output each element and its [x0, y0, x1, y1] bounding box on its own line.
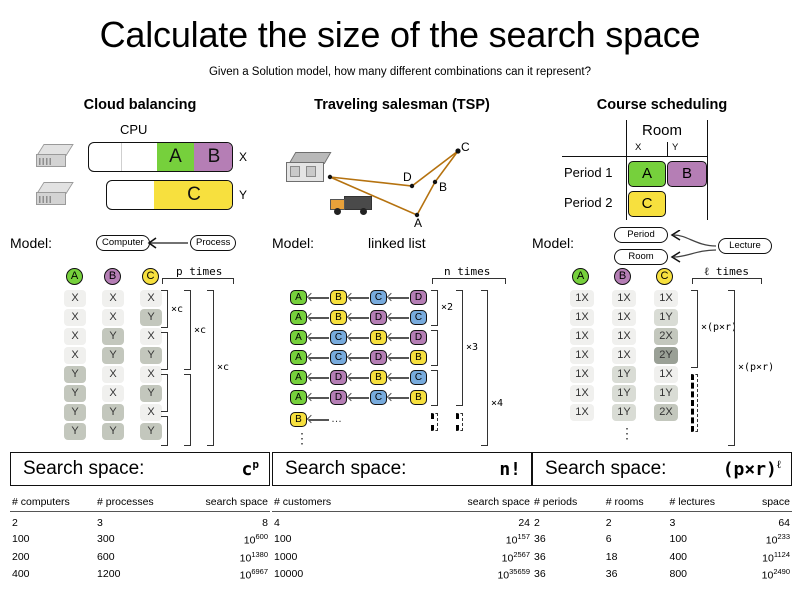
- model-arrows: [532, 230, 792, 270]
- combination-cell: X: [102, 385, 124, 402]
- bracket-level-1-dashed: [431, 413, 438, 431]
- table-cell: 300: [95, 531, 178, 549]
- chain-arrow-head: [387, 373, 395, 381]
- combination-cell: 1X: [612, 347, 636, 364]
- search-space-label: Search space:: [285, 458, 406, 480]
- table-cell: 1035659: [397, 566, 532, 584]
- combination-cell: Y: [64, 366, 86, 383]
- bracket-level-2: [456, 290, 463, 406]
- chain-node[interactable]: A: [290, 390, 307, 405]
- chain-node[interactable]: D: [370, 310, 387, 325]
- table-cell: 1000: [272, 548, 397, 566]
- data-table-course: # periods# rooms# lecturesspace223643661…: [532, 495, 792, 583]
- table-cell: 102567: [397, 548, 532, 566]
- chain-arrow-head: [307, 373, 315, 381]
- process-chip-c[interactable]: C: [154, 181, 233, 209]
- chain-node[interactable]: C: [330, 350, 347, 365]
- table-header: # rooms: [604, 495, 668, 512]
- model-label: Model:: [272, 235, 314, 251]
- table-cell: 10600: [179, 531, 271, 549]
- chain-ellipsis: …: [331, 413, 342, 425]
- chain-arrow-head: [387, 353, 395, 361]
- table-cell: 64: [743, 512, 792, 531]
- chain-node[interactable]: C: [410, 370, 427, 385]
- process-chip-b[interactable]: B: [194, 143, 233, 171]
- combination-cell: 1X: [570, 309, 594, 326]
- table-cell: 102490: [743, 566, 792, 584]
- combination-cell: 2X: [654, 328, 678, 345]
- lecture-block-b[interactable]: B: [667, 161, 707, 187]
- chain-arrow-head: [347, 353, 355, 361]
- page-title: Calculate the size of the search space: [0, 14, 800, 56]
- combination-cell: X: [140, 290, 162, 307]
- chain-arrow-head: [307, 393, 315, 401]
- combination-cell: Y: [140, 347, 162, 364]
- chain-node[interactable]: D: [370, 350, 387, 365]
- combination-cell: 1X: [612, 309, 636, 326]
- column-heading: Cloud balancing: [10, 96, 270, 114]
- table-cell: 36: [532, 566, 604, 584]
- search-space-box-course: Search space: (p×r)ℓ: [532, 452, 792, 486]
- tsp-map: C D B A: [272, 120, 532, 230]
- combo-header-a: A: [572, 268, 589, 285]
- table-cell: 18: [604, 548, 668, 566]
- computer-tag-y: Y: [239, 188, 247, 202]
- chain-node[interactable]: D: [410, 290, 427, 305]
- combination-cell: 2X: [654, 404, 678, 421]
- table-cell: 2: [604, 512, 668, 531]
- period-label-2: Period 2: [564, 195, 612, 210]
- node-label-d: D: [403, 170, 412, 184]
- combo-header-a: A: [66, 268, 83, 285]
- cloud-combination-table: A B C XXXXXYXYXXYYYXXYXYYYXYYY p times ×…: [10, 268, 270, 448]
- combination-cell: 1X: [654, 366, 678, 383]
- combo-header-c: C: [656, 268, 673, 285]
- chain-arrow-head: [347, 373, 355, 381]
- combination-cell: 2Y: [654, 347, 678, 364]
- combination-cell: Y: [140, 385, 162, 402]
- combination-cell: Y: [102, 347, 124, 364]
- column-tsp: Traveling salesman (TSP) C D B A Model: …: [272, 96, 532, 596]
- table-cell: 100: [272, 531, 397, 549]
- combination-cell: 1X: [570, 347, 594, 364]
- bracket-level-3: [481, 290, 488, 446]
- combination-cell: X: [64, 347, 86, 364]
- table-cell: 36: [532, 531, 604, 549]
- search-space-label: Search space:: [23, 458, 144, 480]
- combination-cell: Y: [140, 309, 162, 326]
- table-cell: 100: [10, 531, 95, 549]
- table-header: # lectures: [667, 495, 742, 512]
- chain-node[interactable]: C: [410, 310, 427, 325]
- table-row: 36610010233: [532, 531, 792, 549]
- table-row: 10030010600: [10, 531, 270, 549]
- table-cell: 8: [179, 512, 271, 531]
- column-heading: Traveling salesman (TSP): [272, 96, 532, 114]
- brace-label: p times: [176, 265, 222, 278]
- grid-vline-mid: [667, 142, 668, 156]
- combination-cell: Y: [64, 385, 86, 402]
- cpu-label: CPU: [120, 122, 147, 137]
- data-table-cloud: # computers# processessearch space238100…: [10, 495, 270, 583]
- combination-cell: Y: [102, 423, 124, 440]
- brace-top: [692, 278, 762, 284]
- computer-tag-x: X: [239, 150, 247, 164]
- course-schedule-grid: Room X Y Period 1 Period 2 A B C: [532, 120, 792, 230]
- multiplier-2: ×3: [466, 342, 478, 353]
- combination-cell: 1X: [612, 328, 636, 345]
- multiplier-3: ×c: [217, 362, 229, 373]
- chain-arrow-head: [387, 313, 395, 321]
- table-row: 3618400101124: [532, 548, 792, 566]
- chain-node[interactable]: B: [410, 390, 427, 405]
- combination-cell: 1Y: [654, 309, 678, 326]
- multiplier-1: ×2: [441, 302, 453, 313]
- model-row-tsp: Model: linked list: [272, 230, 532, 260]
- table-cell: 100: [667, 531, 742, 549]
- combination-cell: 1Y: [612, 366, 636, 383]
- bracket-level-1: [431, 330, 438, 366]
- table-header: # periods: [532, 495, 604, 512]
- combination-cell: 1X: [570, 328, 594, 345]
- chain-node[interactable]: A: [290, 350, 307, 365]
- combination-cell: X: [102, 290, 124, 307]
- chain-node[interactable]: C: [370, 290, 387, 305]
- brace-label: n times: [444, 265, 490, 278]
- table-cell: 10233: [743, 531, 792, 549]
- combination-cell: X: [140, 366, 162, 383]
- table-cell: 600: [95, 548, 178, 566]
- chain-node[interactable]: B: [330, 310, 347, 325]
- combination-cell: Y: [102, 328, 124, 345]
- server-icon: [36, 182, 72, 208]
- table-row: 424: [272, 512, 532, 531]
- table-cell: 4: [272, 512, 397, 531]
- chain-arrow-head: [307, 333, 315, 341]
- combination-cell: 1X: [570, 290, 594, 307]
- table-cell: 101124: [743, 548, 792, 566]
- table-row: 22364: [532, 512, 792, 531]
- chain-node[interactable]: C: [370, 390, 387, 405]
- chain-node[interactable]: A: [290, 290, 307, 305]
- table-cell: 3: [667, 512, 742, 531]
- chain-node[interactable]: A: [290, 370, 307, 385]
- page-subtitle: Given a Solution model, how many differe…: [0, 66, 800, 78]
- data-table-tsp: # customerssearch space42410010157100010…: [272, 495, 532, 583]
- model-row-cloud: Model: Computer Process: [10, 230, 270, 260]
- table-cell: 2: [10, 512, 95, 531]
- search-space-box-tsp: Search space: n!: [272, 452, 532, 486]
- combination-cell: 1X: [570, 404, 594, 421]
- table-cell: 36: [604, 566, 668, 584]
- search-space-box-cloud: Search space: cp: [10, 452, 270, 486]
- combination-cell: X: [64, 328, 86, 345]
- combination-cell: 1Y: [612, 404, 636, 421]
- table-cell: 6: [604, 531, 668, 549]
- vertical-ellipsis: ⋮: [295, 430, 309, 447]
- brace-top: [432, 278, 506, 284]
- brace-label: ℓ times: [704, 265, 749, 278]
- combination-cell: 1X: [570, 385, 594, 402]
- bracket-level-1: [431, 290, 438, 326]
- computer-bar-y: C: [106, 180, 233, 210]
- bracket-level-2: [728, 290, 735, 446]
- table-cell: 200: [10, 548, 95, 566]
- search-space-formula: (p×r)ℓ: [723, 458, 781, 480]
- chain-arrow-head: [347, 313, 355, 321]
- chain-arrow-head: [347, 333, 355, 341]
- grid-hline: [562, 156, 708, 157]
- bracket-level-1: [161, 374, 168, 412]
- table-cell: 36: [532, 548, 604, 566]
- bracket-level-1-dashed: [691, 374, 698, 432]
- bracket-level-3: [207, 290, 214, 446]
- warehouse-icon: [286, 152, 332, 186]
- chain-arrow-head: [387, 393, 395, 401]
- multiplier-1: ×c: [171, 304, 183, 315]
- chain-arrow-head: [307, 313, 315, 321]
- room-col-y: Y: [672, 142, 678, 153]
- table-cell: 400: [667, 548, 742, 566]
- combo-header-b: B: [614, 268, 631, 285]
- combination-cell: X: [102, 366, 124, 383]
- chain-node[interactable]: B: [410, 350, 427, 365]
- chain-node[interactable]: A: [290, 310, 307, 325]
- table-row: 4001200106967: [10, 566, 270, 584]
- tsp-combination-list: ABCDABDCACBDACDBADBCADCBB…⋮ n times ×2 ×…: [272, 268, 532, 448]
- table-cell: 106967: [179, 566, 271, 584]
- bracket-level-2: [184, 374, 191, 446]
- multiplier-2: ×(p×r): [738, 362, 774, 373]
- table-row: 1000102567: [272, 548, 532, 566]
- bracket-level-1: [161, 332, 168, 370]
- column-heading: Course scheduling: [532, 96, 792, 114]
- combination-cell: 1X: [612, 290, 636, 307]
- combination-cell: 1X: [570, 366, 594, 383]
- table-cell: 3: [95, 512, 178, 531]
- bracket-level-2-dashed: [456, 413, 463, 431]
- combination-cell: Y: [102, 404, 124, 421]
- table-cell: 24: [397, 512, 532, 531]
- chain-arrow-head: [387, 333, 395, 341]
- bracket-level-1: [431, 370, 438, 406]
- column-course-scheduling: Course scheduling Room X Y Period 1 Peri…: [532, 96, 792, 596]
- table-header: search space: [397, 495, 532, 512]
- table-cell: 400: [10, 566, 95, 584]
- table-row: 238: [10, 512, 270, 531]
- chain-arrow-head: [347, 393, 355, 401]
- vertical-ellipsis: ⋮: [620, 425, 634, 442]
- combination-cell: Y: [140, 423, 162, 440]
- search-space-label: Search space:: [545, 458, 666, 480]
- combo-header-c: C: [142, 268, 159, 285]
- course-combination-table: A B C 1X1X1X1X1X1Y1X1X2X1X1X2Y1X1Y1X1X1Y…: [532, 268, 792, 448]
- chain-node[interactable]: C: [330, 330, 347, 345]
- node-label-a: A: [414, 216, 422, 230]
- chain-arrow-head: [307, 293, 315, 301]
- lecture-block-a[interactable]: A: [628, 161, 666, 187]
- chain-arrow-head: [387, 293, 395, 301]
- process-chip-a[interactable]: A: [157, 143, 194, 171]
- table-row: 10010157: [272, 531, 532, 549]
- room-col-x: X: [635, 142, 641, 153]
- table-header: # processes: [95, 495, 178, 512]
- search-space-formula: cp: [242, 458, 259, 480]
- combination-cell: Y: [64, 423, 86, 440]
- combination-cell: 1Y: [612, 385, 636, 402]
- table-row: 100001035659: [272, 566, 532, 584]
- room-header: Room: [642, 122, 682, 139]
- search-space-formula: n!: [499, 458, 521, 480]
- table-header: space: [743, 495, 792, 512]
- chain-node-tail[interactable]: B: [290, 412, 307, 427]
- combination-cell: X: [140, 328, 162, 345]
- table-header: # computers: [10, 495, 95, 512]
- combination-cell: X: [102, 309, 124, 326]
- multiplier-2: ×c: [194, 325, 206, 336]
- combo-header-b: B: [104, 268, 121, 285]
- combination-cell: 1X: [654, 290, 678, 307]
- chain-node[interactable]: D: [330, 390, 347, 405]
- combination-cell: Y: [64, 404, 86, 421]
- table-header: search space: [179, 495, 271, 512]
- chain-node[interactable]: B: [370, 370, 387, 385]
- chain-node[interactable]: B: [370, 330, 387, 345]
- table-cell: 2: [532, 512, 604, 531]
- bracket-level-1: [691, 290, 698, 368]
- column-cloud-balancing: Cloud balancing CPU A B X C Y Model: Com…: [10, 96, 270, 596]
- table-cell: 10000: [272, 566, 397, 584]
- node-label-c: C: [461, 140, 470, 154]
- model-row-course: Model: Period Room Lecture: [532, 230, 792, 270]
- node-label-b: B: [439, 180, 447, 194]
- lecture-block-c[interactable]: C: [628, 191, 666, 217]
- chain-arrow-head: [307, 353, 315, 361]
- combination-cell: X: [64, 290, 86, 307]
- combination-cell: 1Y: [654, 385, 678, 402]
- cloud-balancing-diagram: CPU A B X C Y: [10, 120, 270, 230]
- table-row: 3636800102490: [532, 566, 792, 584]
- bracket-level-1: [161, 416, 168, 446]
- grid-vline-right: [707, 120, 708, 220]
- truck-icon: [330, 195, 374, 217]
- combination-cell: X: [140, 404, 162, 421]
- chain-node[interactable]: D: [330, 370, 347, 385]
- table-cell: 1200: [95, 566, 178, 584]
- period-label-1: Period 1: [564, 165, 612, 180]
- bracket-level-2: [184, 290, 191, 370]
- model-arrow: [10, 230, 270, 260]
- chain-arrow-head: [307, 415, 315, 423]
- table-cell: 101380: [179, 548, 271, 566]
- bracket-level-1: [161, 290, 168, 328]
- chain-node[interactable]: D: [410, 330, 427, 345]
- table-header: # customers: [272, 495, 397, 512]
- chain-arrow-head: [347, 293, 355, 301]
- table-cell: 800: [667, 566, 742, 584]
- model-value: linked list: [368, 235, 426, 251]
- chain-node[interactable]: B: [330, 290, 347, 305]
- multiplier-3: ×4: [491, 398, 503, 409]
- combination-cell: X: [64, 309, 86, 326]
- chain-node[interactable]: A: [290, 330, 307, 345]
- table-cell: 10157: [397, 531, 532, 549]
- brace-top: [162, 278, 234, 284]
- table-row: 200600101380: [10, 548, 270, 566]
- computer-bar-x: A B: [88, 142, 233, 172]
- server-icon: [36, 144, 72, 170]
